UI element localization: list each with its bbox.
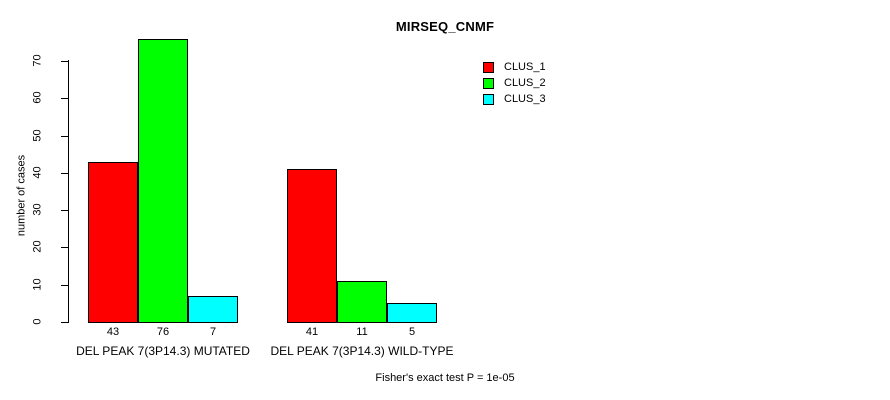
bar-value-label: 11: [337, 327, 387, 338]
y-tick-mark: [61, 285, 68, 286]
legend-swatch-icon: [483, 94, 494, 105]
y-tick-label: 20: [33, 227, 44, 267]
bar-value-label: 41: [287, 327, 337, 338]
chart-title: MIRSEQ_CNMF: [0, 19, 890, 34]
bar-chart-figure: MIRSEQ_CNMF number of cases 010203040506…: [0, 0, 890, 400]
legend-swatch-icon: [483, 62, 494, 73]
bar-value-label: 76: [138, 327, 188, 338]
legend-label: CLUS_1: [504, 61, 546, 73]
bar-clus_1-group2: [287, 169, 337, 323]
y-tick-label: 70: [33, 41, 44, 81]
y-axis-title: number of cases: [17, 126, 28, 266]
y-axis-line: [68, 60, 69, 323]
y-tick-mark: [61, 247, 68, 248]
y-tick-label: 30: [33, 190, 44, 230]
statistical-test-annotation: Fisher's exact test P = 1e-05: [0, 372, 890, 384]
y-tick-mark: [61, 98, 68, 99]
bar-clus_2-group1: [138, 39, 188, 323]
y-tick-mark: [61, 173, 68, 174]
y-tick-mark: [61, 61, 68, 62]
y-tick-label: 40: [33, 152, 44, 192]
bar-value-label: 7: [188, 327, 238, 338]
legend-label: CLUS_2: [504, 77, 546, 89]
bar-clus_1-group1: [88, 162, 138, 323]
y-tick-label: 0: [33, 302, 44, 342]
bar-value-label: 43: [88, 327, 138, 338]
bar-value-label: 5: [387, 327, 437, 338]
group-label-2: DEL PEAK 7(3P14.3) WILD-TYPE: [212, 345, 512, 357]
y-tick-mark: [61, 322, 68, 323]
y-tick-mark: [61, 136, 68, 137]
y-tick-mark: [61, 210, 68, 211]
y-tick-label: 10: [33, 264, 44, 304]
y-tick-label: 50: [33, 115, 44, 155]
y-tick-label: 60: [33, 78, 44, 118]
bar-clus_2-group2: [337, 281, 387, 323]
bar-clus_3-group2: [387, 303, 437, 323]
bar-clus_3-group1: [188, 296, 238, 323]
legend-label: CLUS_3: [504, 93, 546, 105]
legend-swatch-icon: [483, 78, 494, 89]
